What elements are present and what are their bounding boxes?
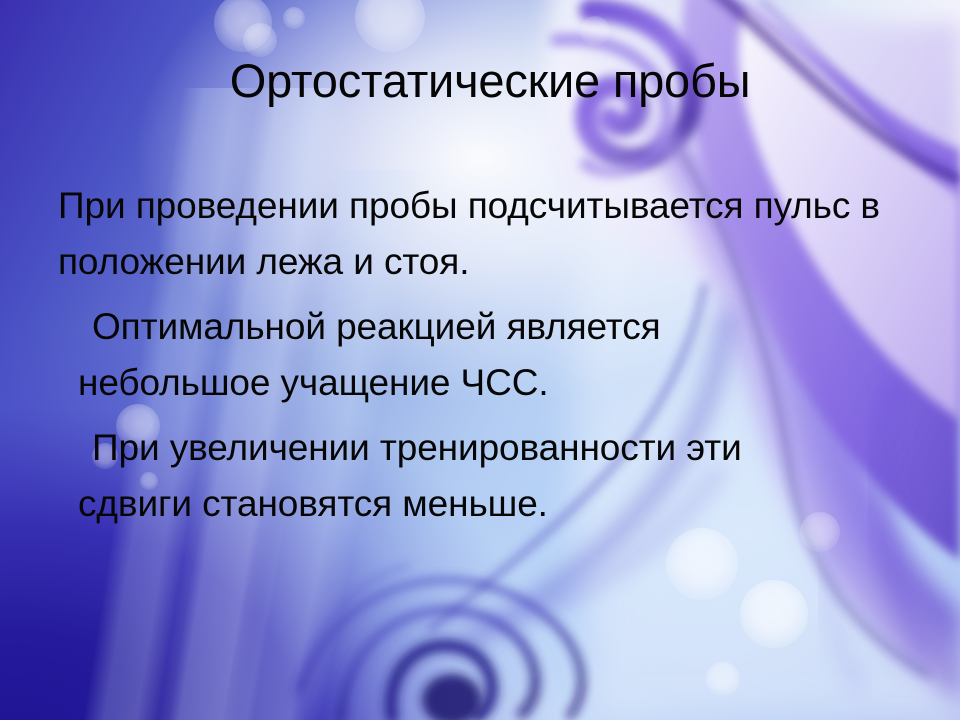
smoke-tendril-left [296,566,408,700]
body-paragraph-2: Оптимальной реакцией является небольшое … [44,299,718,411]
bokeh-circle [214,0,272,52]
presentation-slide: Ортостатические пробы При проведении про… [0,0,960,720]
smoke-spiral-mid [340,610,536,720]
smoke-spiral-outer [300,580,582,716]
bokeh-circle [580,16,610,46]
smoke-spiral-inner [391,645,492,718]
bokeh-circle [243,23,277,57]
slide-title: Ортостатические пробы [210,56,751,105]
ribbon-arc-bottom-right-2 [828,540,862,690]
body-paragraph-1: При проведении пробы подсчитывается пуль… [44,178,918,290]
slide-body: При проведении пробы подсчитывается пуль… [44,178,924,541]
bokeh-circle [706,662,740,696]
smoke-spiral-core [422,674,482,720]
body-paragraph-3: При увеличении тренированности эти сдвиг… [44,420,798,532]
bokeh-circle [740,580,808,648]
bokeh-circle [283,7,305,29]
bokeh-circle [355,0,425,52]
title-block: Ортостатические пробы [0,56,960,105]
